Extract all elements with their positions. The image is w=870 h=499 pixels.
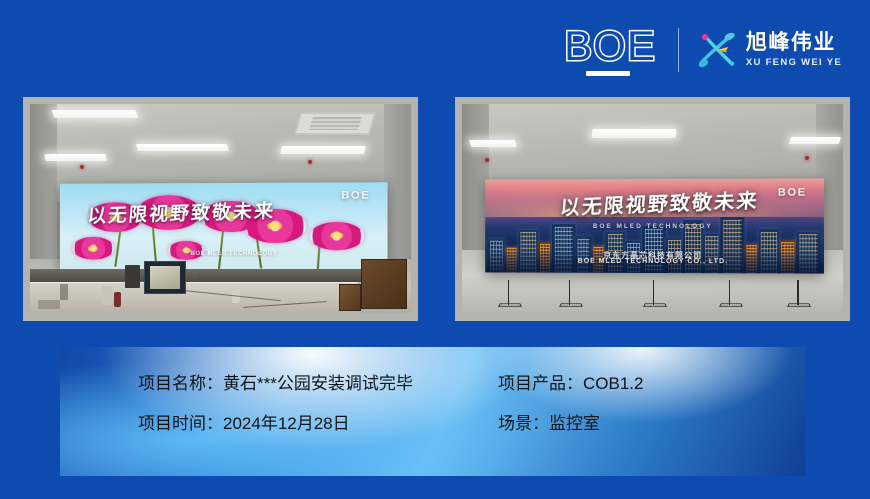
screen-boe-watermark: BOE [778,186,807,198]
photo-row: 以无限视野致敬未来 BOE MLED TECHNOLOGY BOE [23,97,849,321]
ceiling-light [45,154,107,161]
project-info-panel: 项目名称：黄石***公园安装调试完毕 项目产品：COB1.2 项目时间：2024… [60,347,805,476]
project-product-line: 项目产品：COB1.2 [498,371,643,397]
partner-name-block: 旭峰伟业 XU FENG WEI YE [746,31,842,69]
screen-boe-watermark: BOE [341,190,370,202]
screen-company-en: BOE MLED TECHNOLOGY CO., LTD. [552,258,755,266]
boe-logo: BOE [564,25,678,76]
desk-item [38,300,61,308]
ceiling-light [469,140,517,147]
screen-stand [569,280,571,305]
wooden-crate [361,259,407,309]
ceiling-light [136,144,229,151]
partner-logo: 旭峰伟业 XU FENG WEI YE [695,30,842,70]
ceiling-light [789,137,841,144]
screen-stand [653,280,655,305]
header-logo-bar: BOE 旭峰伟业 XU FENG WEI YE [564,22,842,78]
project-name-line: 项目名称：黄石***公园安装调试完毕 [138,371,498,397]
screen-stand [508,280,510,305]
ac-vent-icon [293,112,376,135]
screen-subtitle: BOE MLED TECHNOLOGY [143,252,327,259]
desk-item [60,284,68,301]
partner-name-en: XU FENG WEI YE [746,57,842,69]
screen-subtitle: BOE MLED TECHNOLOGY [545,223,762,230]
desk-surface [30,282,358,313]
led-wall-flowers-photo: 以无限视野致敬未来 BOE MLED TECHNOLOGY BOE [23,97,418,321]
bird-x-mark-icon [695,30,737,70]
project-info-grid: 项目名称：黄石***公园安装调试完毕 项目产品：COB1.2 项目时间：2024… [138,371,643,436]
ceiling-light [281,146,366,154]
ceiling-light [591,129,676,138]
desk-front-panel [198,269,381,282]
water-bottle [102,286,111,305]
photo-canvas: 以无限视野致敬未来 BOE MLED TECHNOLOGY 京东方晶芯科技有限公… [462,104,843,313]
boe-logo-underline [586,71,630,76]
photo-canvas: 以无限视野致敬未来 BOE MLED TECHNOLOGY BOE [30,104,411,313]
wooden-crate [339,284,362,311]
led-screen: 以无限视野致敬未来 BOE MLED TECHNOLOGY BOE [60,183,387,272]
desk-item [114,292,121,307]
monitor [144,261,186,294]
project-scene-line: 场景：监控室 [498,411,643,437]
ceiling-sensor [80,165,84,169]
flower [310,222,364,250]
boe-logo-text: BOE [564,25,656,67]
led-screen: 以无限视野致敬未来 BOE MLED TECHNOLOGY 京东方晶芯科技有限公… [485,179,824,274]
screen-stand [729,280,731,305]
equipment-box [125,265,140,288]
partner-name-cn: 旭峰伟业 [746,31,842,55]
project-date-line: 项目时间：2024年12月28日 [138,411,498,437]
ceiling-light [51,110,138,118]
logo-divider [678,28,679,72]
screen-stand [797,280,799,305]
flower [72,238,113,261]
led-wall-cityscape-photo: 以无限视野致敬未来 BOE MLED TECHNOLOGY 京东方晶芯科技有限公… [455,97,850,321]
